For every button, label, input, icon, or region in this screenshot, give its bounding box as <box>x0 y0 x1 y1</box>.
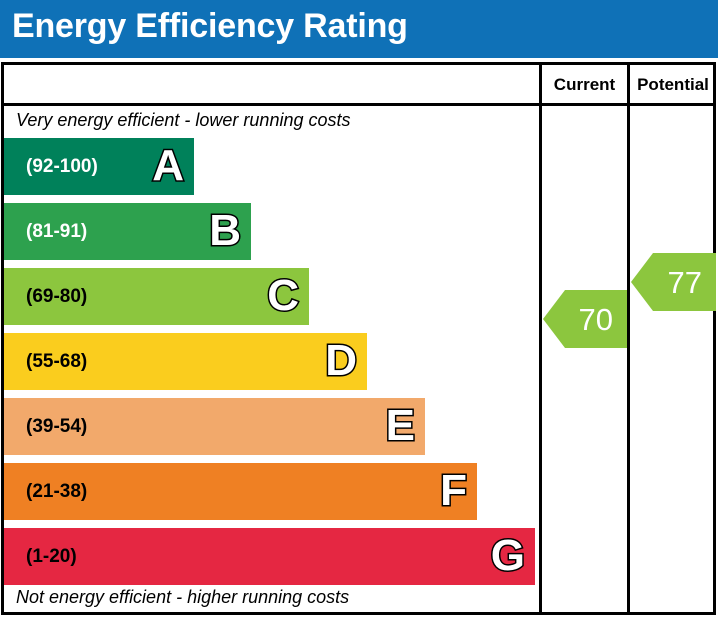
band-range-d: (55-68) <box>26 333 87 390</box>
page-title: Energy Efficiency Rating <box>12 7 408 46</box>
column-header-current: Current <box>542 72 627 98</box>
band-letter-f: F <box>440 463 467 520</box>
band-range-c: (69-80) <box>26 268 87 325</box>
rating-band-a: (92-100)A <box>4 138 194 195</box>
rating-band-list: (92-100)A(81-91)B(69-80)C(55-68)D(39-54)… <box>4 62 539 615</box>
band-letter-d: D <box>325 333 357 390</box>
band-range-g: (1-20) <box>26 528 77 585</box>
rating-band-c: (69-80)C <box>4 268 309 325</box>
band-letter-c: C <box>267 268 299 325</box>
column-divider-potential <box>627 62 630 615</box>
rating-band-g: (1-20)G <box>4 528 535 585</box>
rating-band-d: (55-68)D <box>4 333 367 390</box>
band-range-e: (39-54) <box>26 398 87 455</box>
rating-band-b: (81-91)B <box>4 203 251 260</box>
energy-efficiency-rating-chart: Energy Efficiency Rating Current Potenti… <box>0 0 718 619</box>
rating-band-f: (21-38)F <box>4 463 477 520</box>
column-header-potential: Potential <box>630 72 716 98</box>
band-range-a: (92-100) <box>26 138 98 195</box>
band-range-f: (21-38) <box>26 463 87 520</box>
band-letter-e: E <box>386 398 415 455</box>
band-range-b: (81-91) <box>26 203 87 260</box>
potential-rating-value: 77 <box>668 267 702 298</box>
band-letter-a: A <box>152 138 184 195</box>
current-rating-value: 70 <box>579 304 613 335</box>
band-letter-g: G <box>491 528 525 585</box>
chart-title-bar: Energy Efficiency Rating <box>0 0 718 58</box>
column-divider-current <box>539 62 542 615</box>
rating-band-e: (39-54)E <box>4 398 425 455</box>
band-letter-b: B <box>209 203 241 260</box>
